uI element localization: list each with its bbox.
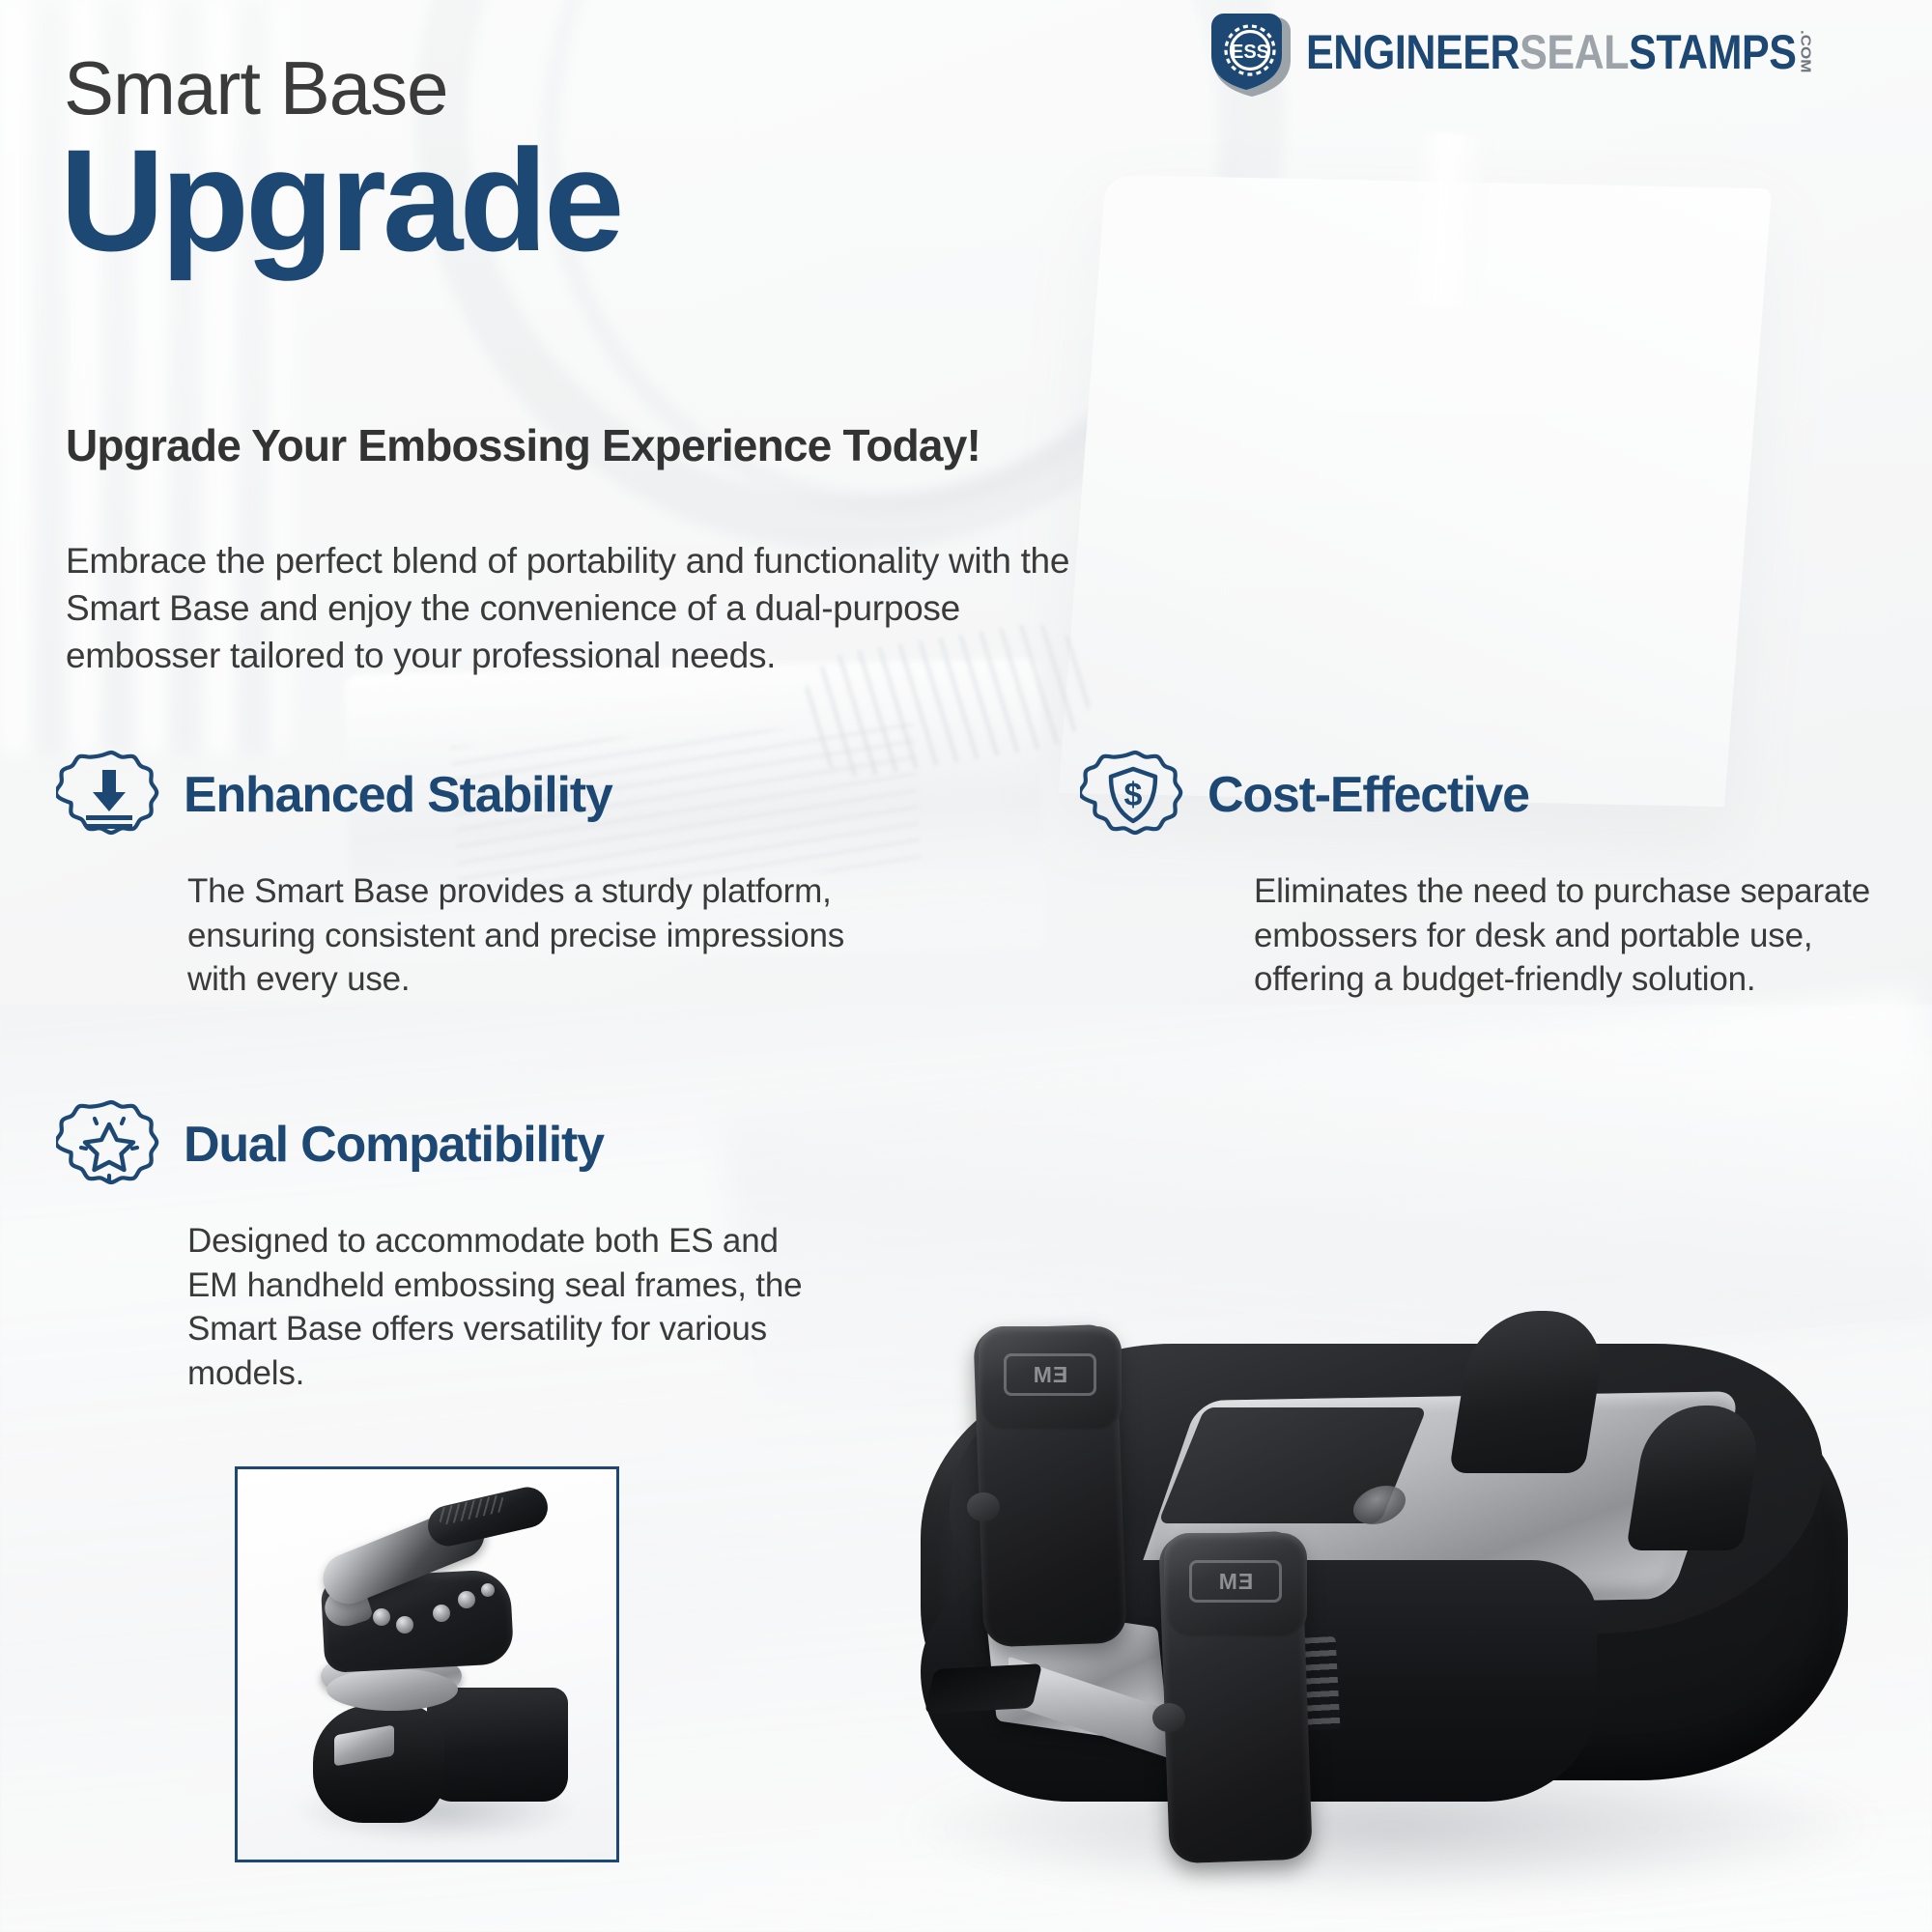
wordmark-engineer: ENGINEER bbox=[1306, 28, 1520, 76]
feature-dual-compatibility: Dual Compatibility Designed to accommoda… bbox=[56, 1092, 906, 1395]
em-tab-label-1: EM bbox=[1004, 1353, 1096, 1396]
handheld-embosser-on-smart-base-image bbox=[238, 1469, 619, 1862]
infographic-canvas: ESS ENGINEER SEAL STAMPS .COM Smart Base… bbox=[0, 0, 1932, 1932]
em-tab-label-2: EM bbox=[1189, 1560, 1282, 1603]
feature-body-cost-effective: Eliminates the need to purchase separate… bbox=[1254, 869, 1911, 1002]
smart-base-product-image: EM EM bbox=[874, 1251, 1932, 1932]
feature-body-enhanced-stability: The Smart Base provides a sturdy platfor… bbox=[187, 869, 902, 1002]
wordmark-stamps: STAMPS bbox=[1629, 28, 1796, 76]
inset-product-photo-frame bbox=[235, 1466, 619, 1862]
eyebrow-title: Smart Base bbox=[64, 50, 447, 126]
star-sparkle-badge-icon bbox=[56, 1092, 162, 1198]
shield-dollar-badge-icon: $ bbox=[1080, 742, 1186, 848]
feature-title-enhanced-stability: Enhanced Stability bbox=[184, 770, 612, 820]
wordmark-seal: SEAL bbox=[1520, 28, 1629, 76]
feature-title-cost-effective: Cost-Effective bbox=[1207, 770, 1529, 820]
feature-title-dual-compatibility: Dual Compatibility bbox=[184, 1120, 604, 1170]
subheading: Upgrade Your Embossing Experience Today! bbox=[66, 421, 980, 470]
down-arrow-press-badge-icon bbox=[56, 742, 162, 848]
feature-body-dual-compatibility: Designed to accommodate both ES and EM h… bbox=[187, 1219, 825, 1395]
feature-enhanced-stability: Enhanced Stability The Smart Base provid… bbox=[56, 742, 906, 1002]
svg-text:$: $ bbox=[1124, 777, 1143, 813]
page-title: Upgrade bbox=[60, 128, 620, 272]
ess-initials: ESS bbox=[1231, 42, 1269, 63]
brand-logo[interactable]: ESS ENGINEER SEAL STAMPS .COM bbox=[1207, 8, 1895, 97]
intro-paragraph: Embrace the perfect blend of portability… bbox=[66, 537, 1090, 680]
brand-wordmark: ENGINEER SEAL STAMPS .COM bbox=[1306, 28, 1813, 76]
feature-cost-effective: $ Cost-Effective Eliminates the need to … bbox=[1080, 742, 1920, 1002]
ess-badge-icon: ESS bbox=[1207, 8, 1296, 97]
wordmark-tld: .COM bbox=[1799, 30, 1813, 72]
